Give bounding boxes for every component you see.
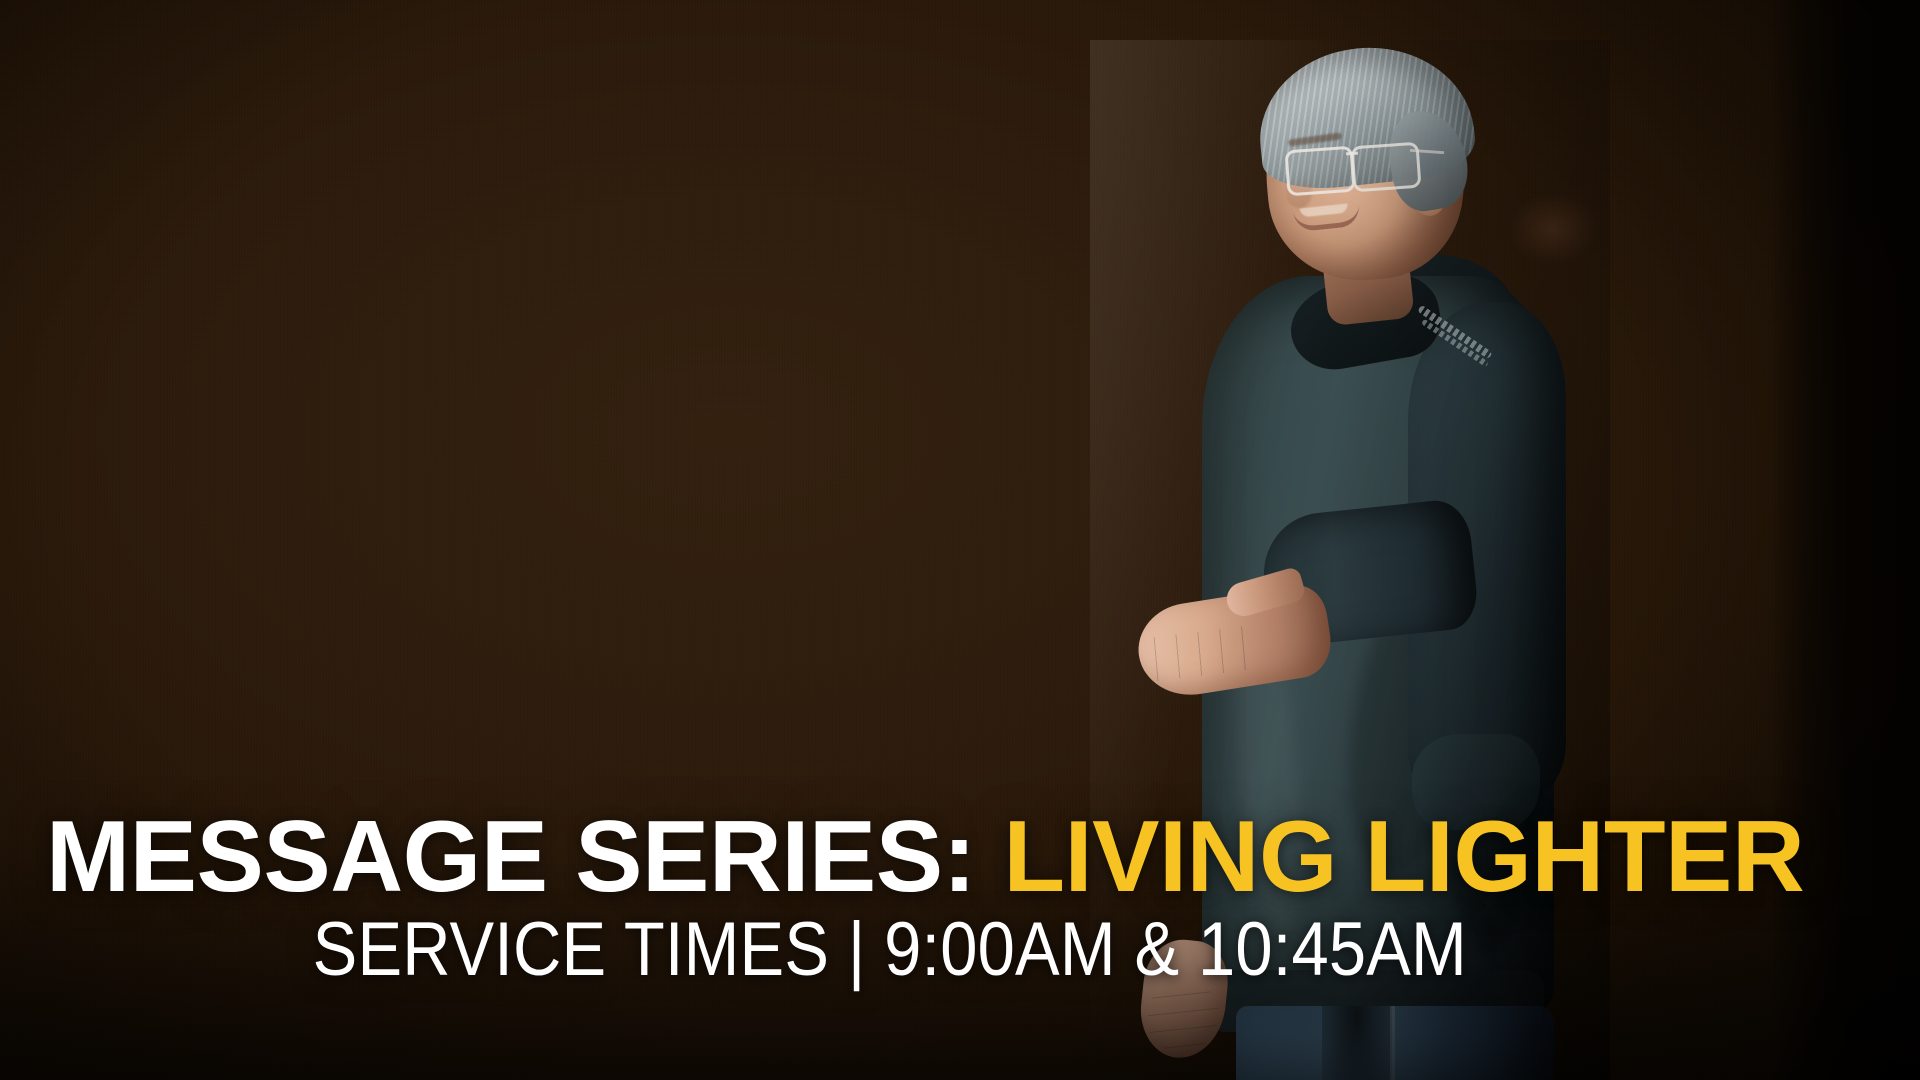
slide-canvas: MESSAGE SERIES: LIVING LIGHTER SERVICE T… [0, 0, 1920, 1080]
headline-accent-series-title: LIVING LIGHTER [1003, 801, 1804, 913]
series-headline: MESSAGE SERIES: LIVING LIGHTER [46, 809, 1874, 906]
lower-third-text-block: MESSAGE SERIES: LIVING LIGHTER SERVICE T… [0, 809, 1920, 988]
headline-prefix: MESSAGE SERIES: [46, 801, 976, 913]
service-times-subline: SERVICE TIMES | 9:00AM & 10:45AM [85, 912, 1694, 988]
